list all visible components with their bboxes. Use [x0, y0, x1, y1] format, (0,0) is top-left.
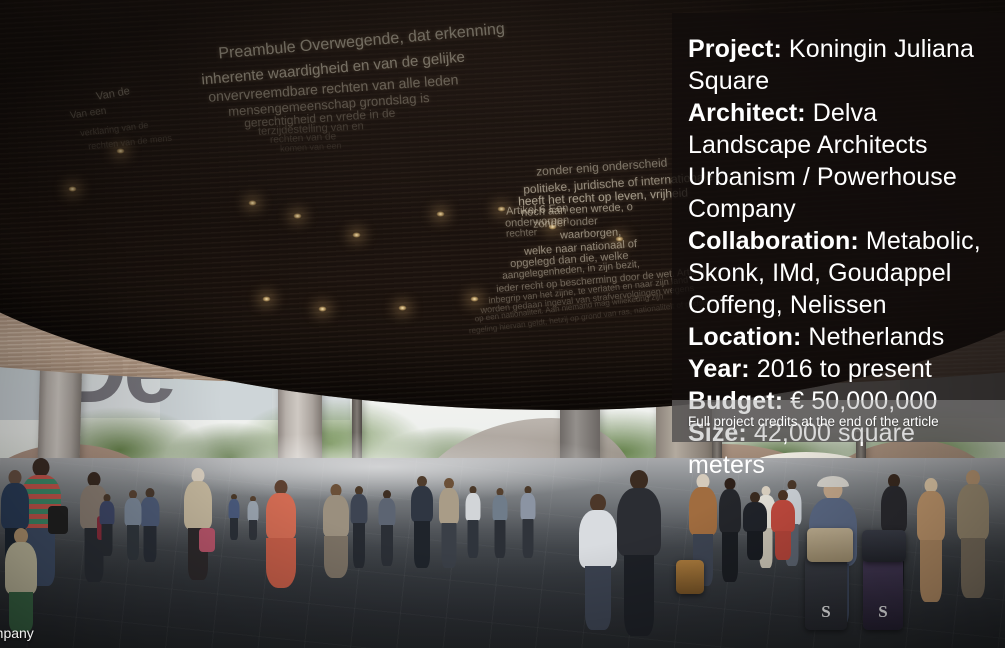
luggage-bag: [807, 528, 853, 562]
ceiling-downlight: [352, 232, 361, 238]
credits-note-band: Full project credits at the end of the a…: [672, 400, 1005, 442]
info-row-architect: Architect: Delva Landscape Architects Ur…: [688, 97, 987, 225]
person-figure: [465, 486, 481, 558]
person-figure: [410, 476, 434, 568]
ceiling-downlight: [615, 236, 624, 242]
ceiling-downlight: [293, 213, 302, 219]
info-row-location: Location: Netherlands: [688, 321, 987, 353]
person-figure: [578, 494, 618, 630]
rolling-suitcase: S: [863, 558, 903, 630]
project-info-panel: Project: Koningin Juliana Square Archite…: [672, 13, 1005, 442]
photo-credit-watermark: ompany: [0, 625, 34, 641]
person-figure: [322, 484, 350, 578]
person-figure: [247, 496, 259, 540]
person-figure: [264, 480, 298, 588]
person-figure: [616, 470, 662, 636]
info-key-location: Location:: [688, 323, 801, 351]
person-figure: [99, 494, 115, 556]
person-figure: [438, 478, 460, 568]
person-figure: [916, 478, 946, 602]
person-figure: [378, 490, 396, 566]
luggage-bag: [862, 530, 906, 562]
info-key-project: Project:: [688, 35, 782, 63]
person-figure: [520, 486, 536, 558]
suitcase-brand-mark: S: [878, 602, 887, 622]
ceiling-downlight: [318, 306, 327, 312]
person-figure: [742, 492, 768, 560]
info-key-collaboration: Collaboration:: [688, 227, 859, 255]
ceiling-downlight: [116, 148, 125, 154]
person-figure: [956, 470, 990, 598]
person-figure: [140, 488, 160, 562]
info-key-year: Year:: [688, 355, 750, 383]
rolling-suitcase: S: [805, 556, 847, 630]
credits-note-text: Full project credits at the end of the a…: [672, 414, 939, 429]
suitcase-brand-mark: S: [821, 602, 830, 622]
ceiling-downlight: [68, 186, 77, 192]
info-row-collaboration: Collaboration: Metabolic, Skonk, IMd, Go…: [688, 225, 987, 321]
info-value-location: Netherlands: [801, 323, 944, 351]
ceiling-downlight: [262, 296, 271, 302]
person-figure: [4, 528, 38, 632]
ceiling-downlight: [548, 224, 557, 230]
person-figure: [350, 486, 368, 568]
ceiling-downlight: [398, 305, 407, 311]
person-figure: [124, 490, 142, 560]
ceiling-downlight: [436, 211, 445, 217]
info-row-year: Year: 2016 to present: [688, 353, 987, 385]
screenshot-root: De: [0, 0, 1005, 648]
info-value-year: 2016 to present: [750, 355, 932, 383]
person-figure: [183, 468, 213, 580]
person-figure: [492, 488, 508, 558]
ceiling-downlight: [470, 296, 479, 302]
ceiling-downlight: [497, 206, 506, 212]
info-row-project: Project: Koningin Juliana Square: [688, 33, 987, 97]
person-figure: [770, 490, 796, 560]
ceiling-downlight: [248, 200, 257, 206]
person-figure: [228, 494, 240, 540]
luggage-bag: [676, 560, 704, 594]
info-key-architect: Architect:: [688, 99, 806, 127]
person-figure: [718, 478, 742, 582]
